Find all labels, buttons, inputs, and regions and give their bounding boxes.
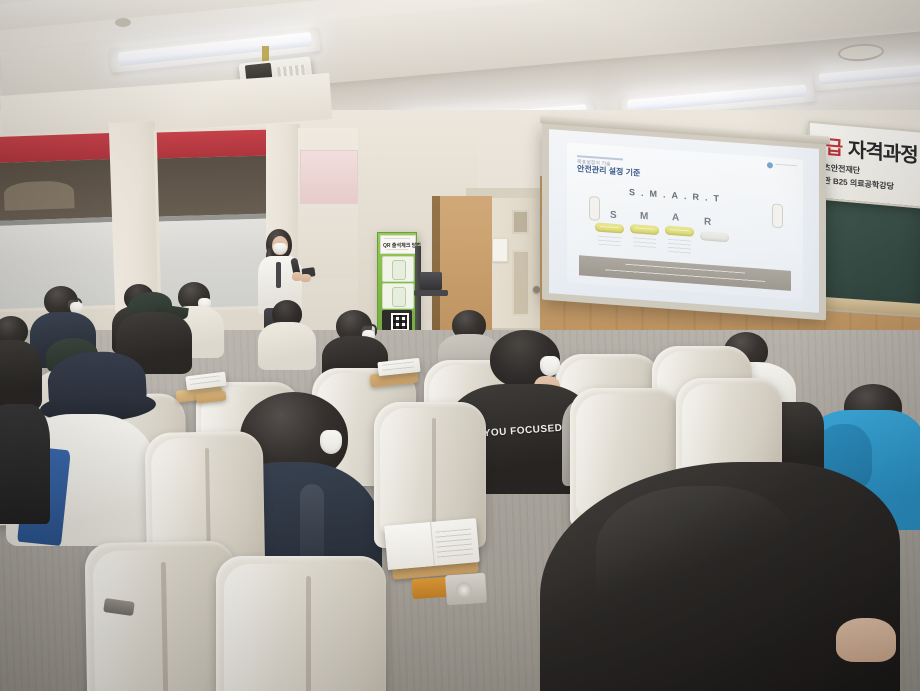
presenter-lanyard — [276, 262, 281, 288]
open-workbook — [384, 518, 479, 570]
smart-letter-m: M — [640, 211, 648, 223]
slide-title: 안전관리 설정 기준 — [577, 163, 640, 179]
door-notice-2 — [492, 238, 508, 262]
chair-bolt — [456, 582, 472, 598]
slide-bracket-left — [589, 196, 600, 221]
smart-caption-s — [598, 236, 621, 247]
slide-footer-bar — [579, 255, 791, 291]
chair-foreground-1[interactable] — [85, 541, 238, 691]
lecture-hall-photo: 2급 자격과정 포츠안전재단 학관 B25 의료공학강당 목표설정의 기술 안전… — [0, 0, 920, 691]
projector-mount — [262, 46, 269, 62]
window-bay-left — [0, 130, 119, 312]
presenter-mask — [273, 243, 287, 254]
smart-pill-m — [630, 224, 659, 235]
smart-caption-m — [633, 237, 656, 248]
slide-bracket-right — [772, 203, 783, 228]
smart-pill-s — [595, 222, 624, 233]
mask-center-navy — [320, 430, 342, 454]
smart-pill-r — [700, 231, 729, 242]
smart-pill-a — [665, 226, 694, 237]
qr-step-2 — [382, 283, 414, 309]
slide-surface: 목표설정의 기술 안전관리 설정 기준 S.M.A.R.T S M A R — [567, 142, 803, 299]
wood-trim — [432, 196, 440, 346]
presenter-hand-right — [300, 274, 311, 282]
person-body-edge-left — [0, 340, 42, 410]
wall-panel-pink — [300, 150, 358, 204]
smart-acronym: S.M.A.R.T — [629, 187, 725, 204]
smart-letter-a: A — [672, 212, 679, 224]
person-coat-edge-left — [0, 404, 50, 524]
qr-attendance-banner: QR 출석체크 방법 — [377, 232, 417, 338]
pencil-case — [411, 577, 448, 599]
person-body-far-4 — [258, 322, 316, 370]
corporate-logo-icon — [767, 162, 773, 168]
smart-letter-s: S — [610, 210, 617, 221]
banner-subline-2: 학관 B25 의료공학강당 — [816, 174, 894, 193]
corporate-logo-text — [775, 164, 797, 170]
projection-screen: 목표설정의 기술 안전관리 설정 기준 S.M.A.R.T S M A R — [549, 129, 819, 313]
mask-tee-person — [540, 356, 560, 376]
laptop-device[interactable] — [420, 272, 442, 290]
hood-sheen — [596, 486, 792, 614]
hand-foreground — [836, 618, 896, 662]
podium-shelf — [414, 290, 448, 296]
chair-foreground-2[interactable] — [216, 556, 386, 691]
smart-caption-a — [668, 239, 691, 255]
ceiling-vent — [115, 18, 131, 27]
banner-course: 자격과정 — [848, 133, 918, 168]
smart-letter-r: R — [704, 216, 711, 228]
qr-step-1 — [382, 256, 414, 282]
qr-banner-header: QR 출석체크 방법 — [380, 235, 416, 254]
